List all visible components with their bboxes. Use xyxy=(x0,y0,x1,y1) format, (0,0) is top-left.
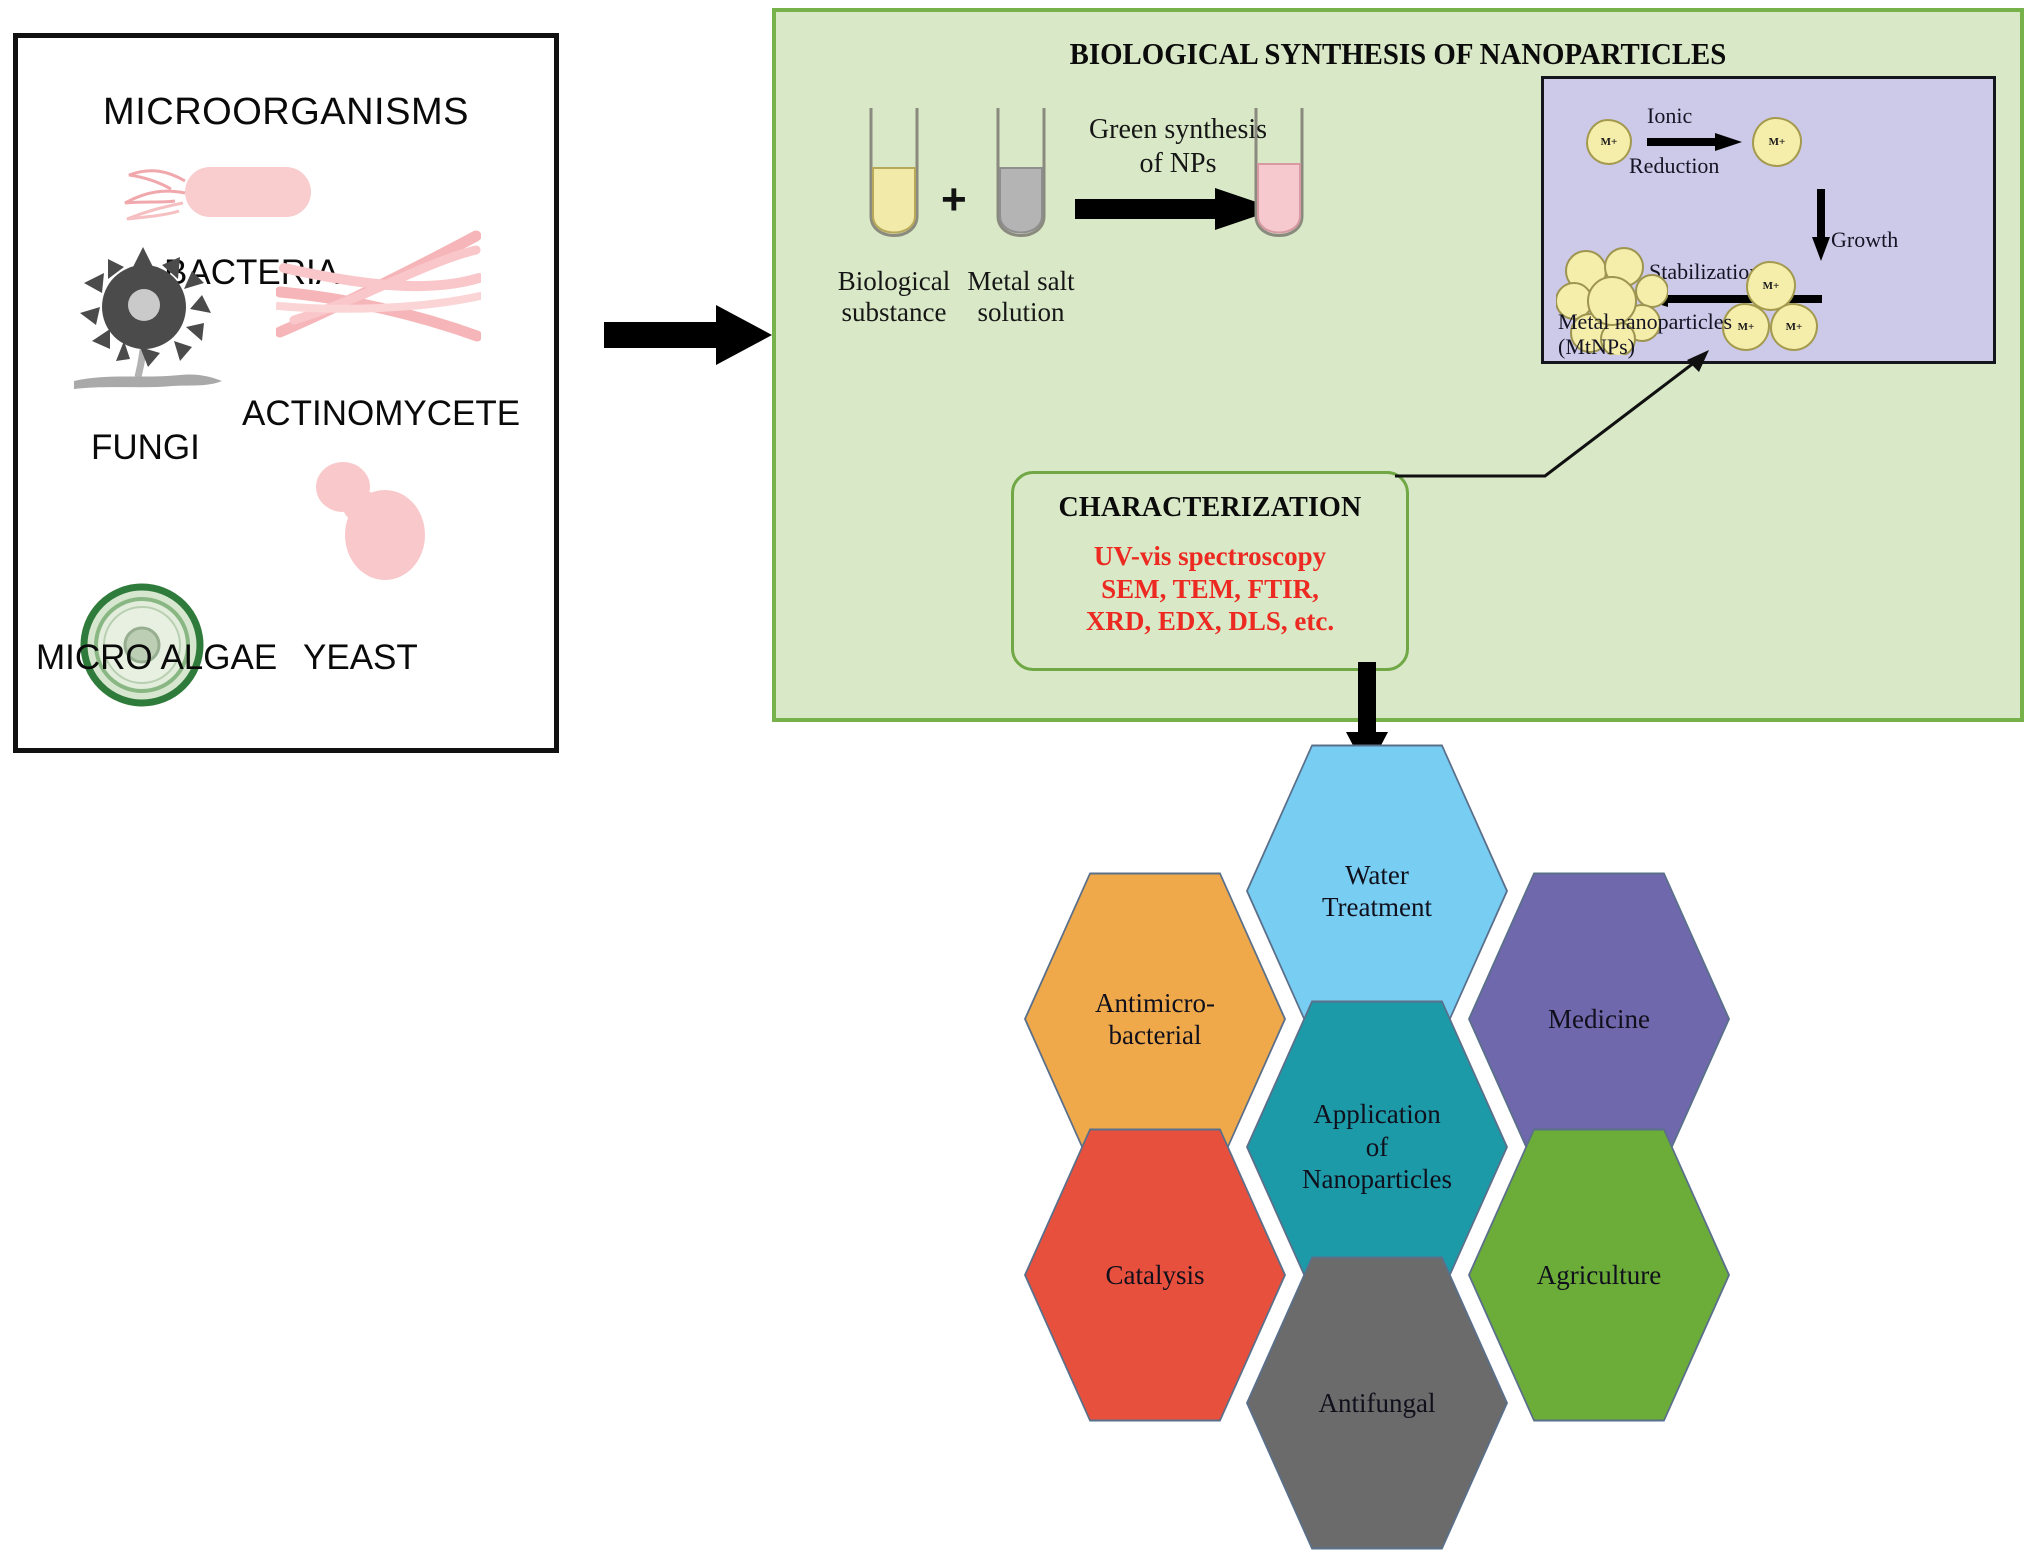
test-tube-icon xyxy=(1248,108,1310,258)
fungi-label: FUNGI xyxy=(91,428,200,468)
yeast-label: YEAST xyxy=(303,638,418,678)
ionic-reduction-label-line1: Ionic xyxy=(1647,103,1692,129)
hex-medicine-outline: Medicine xyxy=(1468,868,1730,1170)
hex-water-treatment-outline: Water Treatment xyxy=(1246,740,1508,1042)
hex-agriculture[interactable]: Agriculture xyxy=(1470,1126,1728,1424)
yeast-icon xyxy=(303,453,433,583)
characterization-line: UV-vis spectroscopy xyxy=(1014,540,1406,573)
hex-antimicrobacterial[interactable]: Antimicro- bacterial xyxy=(1026,870,1284,1168)
ionic-reduction-label-line2: Reduction xyxy=(1629,153,1719,179)
hex-water-treatment[interactable]: Water Treatment xyxy=(1248,742,1506,1040)
test-tube-icon xyxy=(863,108,925,258)
hex-label: Water xyxy=(1345,860,1409,890)
hex-label: of xyxy=(1366,1132,1389,1162)
characterization-line: SEM, TEM, FTIR, xyxy=(1014,573,1406,606)
characterization-title: CHARACTERIZATION xyxy=(1014,492,1406,524)
hex-label: Catalysis xyxy=(1106,1260,1205,1290)
microorganisms-panel: MICROORGANISMS BACTERIA ACTINOMYCETE xyxy=(13,33,559,753)
hex-medicine[interactable]: Medicine xyxy=(1470,870,1728,1168)
plus-sign: + xyxy=(941,175,967,225)
panel-title: BIOLOGICAL SYNTHESIS OF NANOPARTICLES xyxy=(820,36,1977,72)
connector-characterization-to-mechanism xyxy=(1395,340,1715,490)
tube-metal-salt-solution: Metal salt solution xyxy=(990,108,1052,263)
tube-label: Metal salt solution xyxy=(967,266,1074,327)
tube-product xyxy=(1248,108,1310,263)
hex-label: Antimicro- xyxy=(1095,988,1215,1018)
hex-label: bacterial xyxy=(1109,1020,1202,1050)
characterization-methods: UV-vis spectroscopy SEM, TEM, FTIR, XRD,… xyxy=(1014,540,1406,638)
tube-label: Biological substance xyxy=(838,266,950,327)
applications-hexagon-cluster: Water Treatment Antimicro- bacterial Med… xyxy=(970,740,1780,1394)
hex-antifungal-outline: Antifungal xyxy=(1246,1252,1508,1554)
hex-label: Agriculture xyxy=(1537,1260,1661,1290)
test-tube-icon xyxy=(990,108,1052,258)
nanoparticle-mechanism-panel: M+ Ionic Reduction M+ Growth Stabilizati… xyxy=(1541,76,1996,364)
arrow-right-synthesis-icon xyxy=(1075,188,1277,230)
characterization-box: CHARACTERIZATION UV-vis spectroscopy SEM… xyxy=(1011,471,1409,671)
arrow-down-growth-icon xyxy=(1812,189,1830,261)
hex-label: Antifungal xyxy=(1319,1388,1436,1418)
hex-catalysis-outline: Catalysis xyxy=(1024,1124,1286,1426)
hex-agriculture-outline: Agriculture xyxy=(1468,1124,1730,1426)
metal-ion-circle: M+ xyxy=(1752,117,1802,167)
arrow-right-main-icon xyxy=(604,305,772,365)
metal-ion-circle: M+ xyxy=(1586,119,1632,165)
hex-label: Medicine xyxy=(1548,1004,1650,1034)
hex-label: Treatment xyxy=(1322,892,1432,922)
hex-antifungal[interactable]: Antifungal xyxy=(1248,1254,1506,1552)
hex-label: Application xyxy=(1313,1099,1440,1129)
arrow-right-ionic-icon xyxy=(1647,133,1742,151)
hex-antimicrobacterial-outline: Antimicro- bacterial xyxy=(1024,868,1286,1170)
micro-algae-label: MICRO ALGAE xyxy=(36,638,277,678)
characterization-line: XRD, EDX, DLS, etc. xyxy=(1014,605,1406,638)
microorganisms-title: MICROORGANISMS xyxy=(103,91,469,134)
fungi-icon xyxy=(68,243,228,413)
actinomycete-icon xyxy=(276,228,481,363)
tube-biological-substance: Biological substance xyxy=(863,108,925,263)
hex-label: Nanoparticles xyxy=(1302,1164,1452,1194)
hex-application-of-nanoparticles[interactable]: Application of Nanoparticles xyxy=(1248,998,1506,1296)
hex-center-outline: Application of Nanoparticles xyxy=(1246,996,1508,1298)
actinomycete-label: ACTINOMYCETE xyxy=(242,394,520,434)
hex-catalysis[interactable]: Catalysis xyxy=(1026,1126,1284,1424)
growth-label: Growth xyxy=(1831,227,1898,253)
bacteria-icon xyxy=(113,161,313,223)
